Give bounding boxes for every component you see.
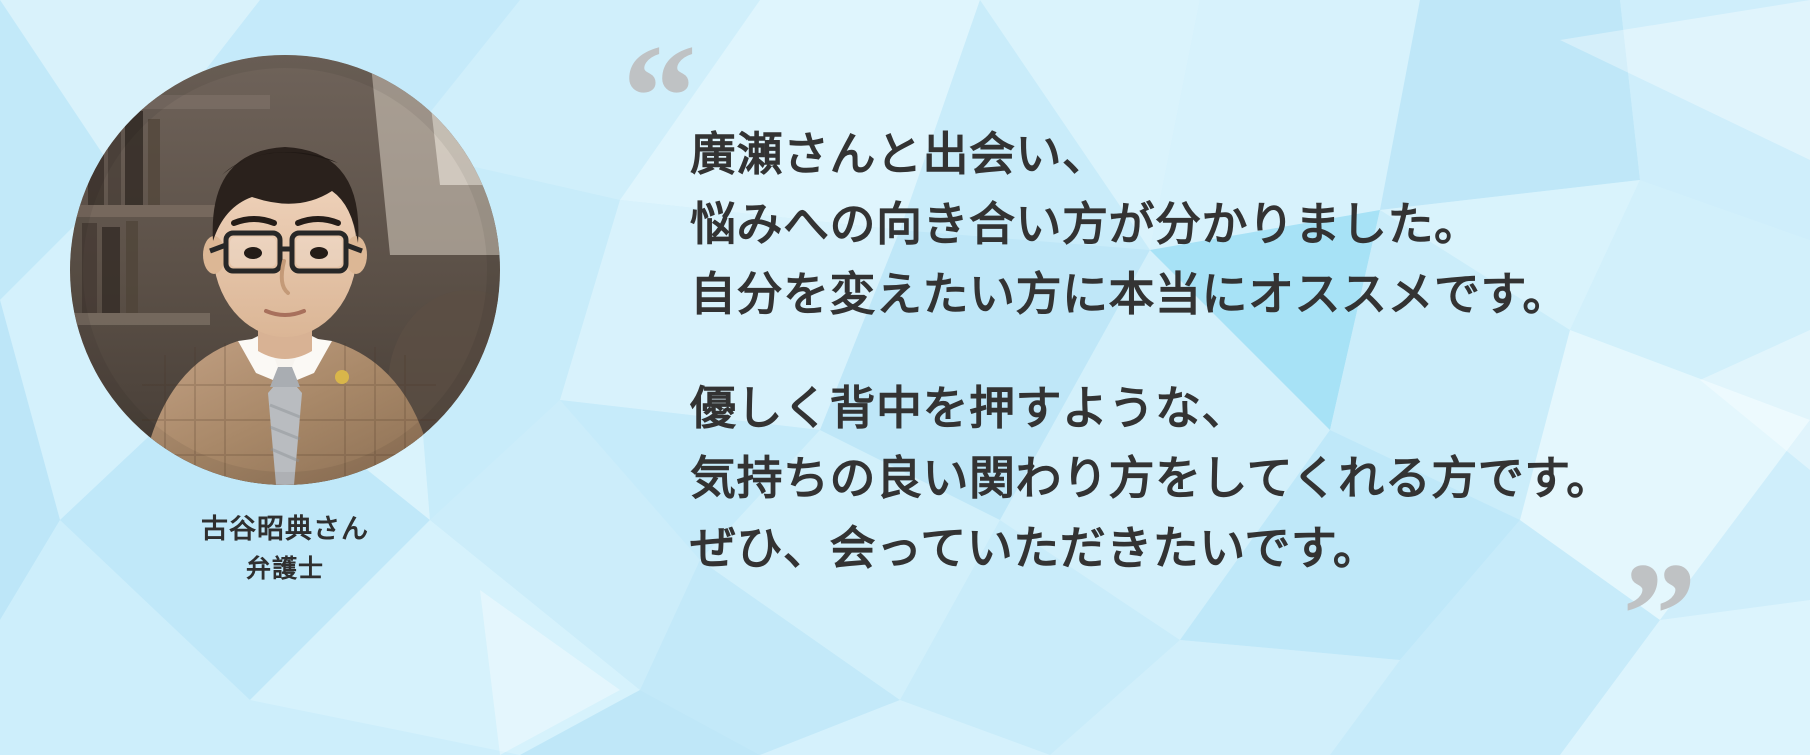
avatar (70, 55, 500, 485)
testimonial-banner: “ ” (0, 0, 1810, 755)
testimonial-line: 悩みへの向き合い方が分かりました。 (690, 198, 1481, 250)
testimonial-line: 優しく背中を押すような、 (690, 382, 1248, 434)
quote-open-icon: “ (622, 22, 697, 172)
testimonial-line: 自分を変えたい方に本当にオススメです。 (690, 268, 1569, 320)
testimonial-paragraph: 優しく背中を押すような、 気持ちの良い関わり方をしてくれる方です。 ぜひ、会って… (690, 374, 1750, 584)
testimonial-line: 廣瀬さんと出会い、 (690, 128, 1109, 180)
testimonial-line: 気持ちの良い関わり方をしてくれる方です。 (690, 452, 1613, 504)
testimonial-paragraph: 廣瀬さんと出会い、 悩みへの向き合い方が分かりました。 自分を変えたい方に本当に… (690, 120, 1750, 330)
person-role: 弁護士 (60, 553, 510, 587)
testimonial-line: ぜひ、会っていただきたいです。 (690, 522, 1379, 574)
person-name: 古谷昭典さん (60, 511, 510, 547)
testimonial-text: 廣瀬さんと出会い、 悩みへの向き合い方が分かりました。 自分を変えたい方に本当に… (690, 120, 1750, 583)
person-block: 古谷昭典さん 弁護士 (60, 55, 510, 675)
portrait-photo (70, 55, 500, 485)
